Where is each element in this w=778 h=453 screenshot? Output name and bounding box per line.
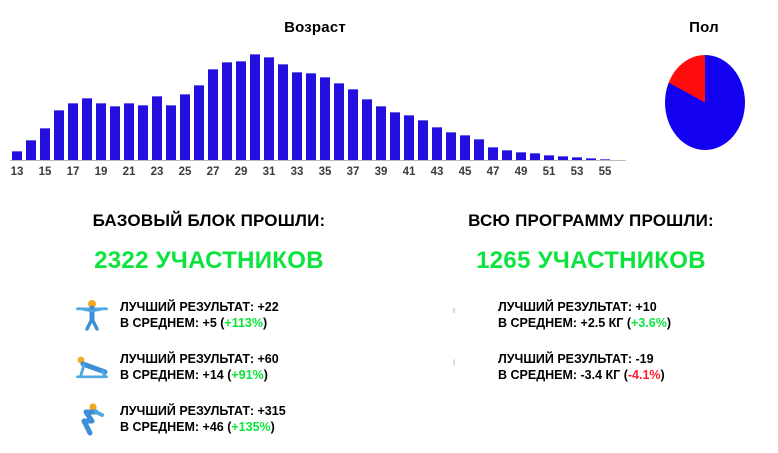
histogram-bars bbox=[10, 47, 626, 161]
x-axis-tick-label: 39 bbox=[374, 163, 388, 181]
x-axis-tick-label: 17 bbox=[66, 163, 80, 181]
x-axis-tick-blank bbox=[52, 163, 66, 181]
histogram-bar bbox=[320, 77, 330, 161]
metric-average-suffix: ) bbox=[661, 368, 665, 382]
histogram-x-axis-labels: 13 15 17 19 21 23 25 27 29 31 33 35 37 3… bbox=[10, 163, 626, 181]
metric-percent-change: +3.6% bbox=[631, 316, 667, 330]
x-axis-tick-label: 41 bbox=[402, 163, 416, 181]
histogram-bar bbox=[194, 85, 204, 161]
histogram-bar-slot bbox=[500, 47, 514, 161]
histogram-bar-slot bbox=[108, 47, 122, 161]
histogram-bar bbox=[348, 89, 358, 161]
x-axis-tick-label: 13 bbox=[10, 163, 24, 181]
histogram-bar bbox=[54, 110, 64, 161]
histogram-bar-slot bbox=[248, 47, 262, 161]
x-axis-tick-label: 37 bbox=[346, 163, 360, 181]
metric-percent-change: +91% bbox=[231, 368, 263, 382]
pull-up-figure-icon bbox=[72, 295, 112, 335]
metric-best-result: ЛУЧШИЙ РЕЗУЛЬТАТ: +315 bbox=[120, 403, 286, 419]
charts-region: Возраст Пол 13 15 17 19 21 23 25 27 29 3… bbox=[0, 0, 778, 196]
metric-row: ЛУЧШИЙ РЕЗУЛЬТАТ: +22В СРЕДНЕМ: +5 (+113… bbox=[14, 295, 404, 335]
gender-pie-chart bbox=[665, 55, 745, 150]
histogram-bar-slot bbox=[150, 47, 164, 161]
metric-best-result: ЛУЧШИЙ РЕЗУЛЬТАТ: +10 bbox=[498, 299, 671, 315]
x-axis-tick-blank bbox=[444, 163, 458, 181]
metric-row: ЛУЧШИЙ РЕЗУЛЬТАТ: -19В СРЕДНЕМ: -3.4 КГ … bbox=[404, 347, 778, 387]
x-axis-tick-blank bbox=[584, 163, 598, 181]
histogram-axis-line bbox=[10, 160, 626, 161]
histogram-bar-slot bbox=[570, 47, 584, 161]
x-axis-tick-blank bbox=[360, 163, 374, 181]
metric-average-result: В СРЕДНЕМ: -3.4 КГ (-4.1%) bbox=[498, 367, 665, 383]
metric-average-suffix: ) bbox=[667, 316, 671, 330]
histogram-bar bbox=[446, 132, 456, 161]
full-program-column: ВСЮ ПРОГРАММУ ПРОШЛИ: 1265 УЧАСТНИКОВ ЛУ… bbox=[404, 196, 778, 399]
histogram-bar bbox=[474, 139, 484, 161]
histogram-bar-slot bbox=[178, 47, 192, 161]
histogram-bar bbox=[236, 61, 246, 161]
histogram-bar bbox=[250, 54, 260, 161]
histogram-bar bbox=[264, 57, 274, 161]
metric-average-prefix: В СРЕДНЕМ: -3.4 КГ ( bbox=[498, 368, 628, 382]
histogram-bar bbox=[40, 128, 50, 161]
histogram-bar-slot bbox=[472, 47, 486, 161]
metric-average-prefix: В СРЕДНЕМ: +14 ( bbox=[120, 368, 231, 382]
histogram-bar bbox=[26, 140, 36, 161]
histogram-bar bbox=[208, 69, 218, 161]
histogram-bar-slot bbox=[122, 47, 136, 161]
histogram-bar-slot bbox=[66, 47, 80, 161]
x-axis-tick-blank bbox=[304, 163, 318, 181]
x-axis-tick-label: 27 bbox=[206, 163, 220, 181]
histogram-bar-slot bbox=[262, 47, 276, 161]
metric-best-result: ЛУЧШИЙ РЕЗУЛЬТАТ: -19 bbox=[498, 351, 665, 367]
metric-row: ЛУЧШИЙ РЕЗУЛЬТАТ: +10В СРЕДНЕМ: +2.5 КГ … bbox=[404, 295, 778, 335]
full-program-heading: ВСЮ ПРОГРАММУ ПРОШЛИ: bbox=[404, 211, 778, 231]
histogram-bar bbox=[292, 72, 302, 161]
metric-average-prefix: В СРЕДНЕМ: +5 ( bbox=[120, 316, 224, 330]
full-program-metric-list: ЛУЧШИЙ РЕЗУЛЬТАТ: +10В СРЕДНЕМ: +2.5 КГ … bbox=[404, 295, 778, 387]
histogram-bar-slot bbox=[598, 47, 612, 161]
x-axis-tick-label: 51 bbox=[542, 163, 556, 181]
histogram-bar-slot bbox=[164, 47, 178, 161]
histogram-bar-slot bbox=[192, 47, 206, 161]
x-axis-tick-blank bbox=[248, 163, 262, 181]
metric-best-result: ЛУЧШИЙ РЕЗУЛЬТАТ: +22 bbox=[120, 299, 279, 315]
metric-average-result: В СРЕДНЕМ: +46 (+135%) bbox=[120, 419, 286, 435]
squat-figure-icon bbox=[72, 399, 112, 439]
histogram-bar-slot bbox=[234, 47, 248, 161]
x-axis-tick-blank bbox=[612, 163, 626, 181]
x-axis-tick-blank bbox=[24, 163, 38, 181]
histogram-bar-slot bbox=[374, 47, 388, 161]
x-axis-tick-label: 29 bbox=[234, 163, 248, 181]
x-axis-tick-blank bbox=[416, 163, 430, 181]
histogram-bar bbox=[334, 83, 344, 161]
histogram-bar-slot bbox=[80, 47, 94, 161]
metric-text: ЛУЧШИЙ РЕЗУЛЬТАТ: +315В СРЕДНЕМ: +46 (+1… bbox=[120, 403, 286, 435]
histogram-bar-slot bbox=[290, 47, 304, 161]
x-axis-tick-blank bbox=[80, 163, 94, 181]
metric-average-suffix: ) bbox=[264, 368, 268, 382]
x-axis-tick-blank bbox=[556, 163, 570, 181]
histogram-bar-slot bbox=[346, 47, 360, 161]
metric-average-suffix: ) bbox=[263, 316, 267, 330]
histogram-bar-slot bbox=[458, 47, 472, 161]
histogram-bar-slot bbox=[542, 47, 556, 161]
histogram-bar bbox=[180, 94, 190, 161]
metric-average-prefix: В СРЕДНЕМ: +46 ( bbox=[120, 420, 231, 434]
histogram-bar bbox=[222, 62, 232, 161]
metric-average-result: В СРЕДНЕМ: +5 (+113%) bbox=[120, 315, 279, 331]
stats-region: БАЗОВЫЙ БЛОК ПРОШЛИ: 2322 УЧАСТНИКОВ ЛУЧ… bbox=[0, 196, 778, 453]
metric-text: ЛУЧШИЙ РЕЗУЛЬТАТ: -19В СРЕДНЕМ: -3.4 КГ … bbox=[498, 351, 665, 383]
histogram-bar bbox=[166, 105, 176, 161]
histogram-bar bbox=[96, 103, 106, 161]
histogram-bar-slot bbox=[276, 47, 290, 161]
histogram-bar-slot bbox=[612, 47, 626, 161]
histogram-bar-slot bbox=[402, 47, 416, 161]
plank-figure-icon bbox=[72, 347, 112, 387]
histogram-bar bbox=[390, 112, 400, 161]
metric-percent-change: +135% bbox=[231, 420, 270, 434]
histogram-bar bbox=[432, 127, 442, 161]
x-axis-tick-blank bbox=[528, 163, 542, 181]
histogram-bar bbox=[138, 105, 148, 161]
histogram-bar bbox=[82, 98, 92, 161]
histogram-bar-slot bbox=[388, 47, 402, 161]
histogram-bar-slot bbox=[360, 47, 374, 161]
x-axis-tick-label: 31 bbox=[262, 163, 276, 181]
histogram-bar bbox=[488, 147, 498, 161]
x-axis-tick-blank bbox=[220, 163, 234, 181]
histogram-bar-slot bbox=[318, 47, 332, 161]
x-axis-tick-blank bbox=[500, 163, 514, 181]
histogram-bar-slot bbox=[10, 47, 24, 161]
metric-text: ЛУЧШИЙ РЕЗУЛЬТАТ: +10В СРЕДНЕМ: +2.5 КГ … bbox=[498, 299, 671, 331]
basic-block-column: БАЗОВЫЙ БЛОК ПРОШЛИ: 2322 УЧАСТНИКОВ ЛУЧ… bbox=[14, 196, 404, 451]
x-axis-tick-blank bbox=[472, 163, 486, 181]
x-axis-tick-blank bbox=[136, 163, 150, 181]
histogram-bar bbox=[68, 103, 78, 161]
histogram-bar-slot bbox=[556, 47, 570, 161]
histogram-bar bbox=[376, 106, 386, 161]
histogram-bar bbox=[306, 73, 316, 161]
histogram-bar-slot bbox=[304, 47, 318, 161]
x-axis-tick-blank bbox=[276, 163, 290, 181]
x-axis-tick-label: 35 bbox=[318, 163, 332, 181]
histogram-bar-slot bbox=[444, 47, 458, 161]
age-chart-title: Возраст bbox=[0, 19, 630, 36]
x-axis-tick-label: 53 bbox=[570, 163, 584, 181]
full-program-participant-count: 1265 УЧАСТНИКОВ bbox=[404, 247, 778, 275]
x-axis-tick-label: 49 bbox=[514, 163, 528, 181]
histogram-bar-slot bbox=[430, 47, 444, 161]
basic-block-metric-list: ЛУЧШИЙ РЕЗУЛЬТАТ: +22В СРЕДНЕМ: +5 (+113… bbox=[14, 295, 404, 439]
x-axis-tick-label: 43 bbox=[430, 163, 444, 181]
histogram-bar-slot bbox=[416, 47, 430, 161]
x-axis-tick-label: 25 bbox=[178, 163, 192, 181]
x-axis-tick-label: 33 bbox=[290, 163, 304, 181]
x-axis-tick-label: 45 bbox=[458, 163, 472, 181]
x-axis-tick-label: 23 bbox=[150, 163, 164, 181]
scale-down-arrow-icon bbox=[450, 347, 490, 387]
metric-best-result: ЛУЧШИЙ РЕЗУЛЬТАТ: +60 bbox=[120, 351, 279, 367]
histogram-bar bbox=[404, 115, 414, 161]
histogram-bar-slot bbox=[584, 47, 598, 161]
histogram-bar-slot bbox=[220, 47, 234, 161]
x-axis-tick-label: 47 bbox=[486, 163, 500, 181]
metric-text: ЛУЧШИЙ РЕЗУЛЬТАТ: +60В СРЕДНЕМ: +14 (+91… bbox=[120, 351, 279, 383]
x-axis-tick-blank bbox=[192, 163, 206, 181]
histogram-bar bbox=[460, 135, 470, 161]
x-axis-tick-label: 15 bbox=[38, 163, 52, 181]
metric-average-prefix: В СРЕДНЕМ: +2.5 КГ ( bbox=[498, 316, 631, 330]
metric-row: ЛУЧШИЙ РЕЗУЛЬТАТ: +315В СРЕДНЕМ: +46 (+1… bbox=[14, 399, 404, 439]
metric-average-result: В СРЕДНЕМ: +2.5 КГ (+3.6%) bbox=[498, 315, 671, 331]
metric-average-suffix: ) bbox=[271, 420, 275, 434]
histogram-bar-slot bbox=[94, 47, 108, 161]
histogram-bar bbox=[124, 103, 134, 161]
gender-chart-title: Пол bbox=[630, 19, 778, 36]
histogram-bar-slot bbox=[38, 47, 52, 161]
histogram-bar-slot bbox=[486, 47, 500, 161]
histogram-bar-slot bbox=[206, 47, 220, 161]
scale-up-arrow-icon bbox=[450, 295, 490, 335]
metric-percent-change: +113% bbox=[224, 316, 263, 330]
x-axis-tick-blank bbox=[108, 163, 122, 181]
basic-block-participant-count: 2322 УЧАСТНИКОВ bbox=[14, 247, 404, 275]
histogram-bar-slot bbox=[24, 47, 38, 161]
metric-text: ЛУЧШИЙ РЕЗУЛЬТАТ: +22В СРЕДНЕМ: +5 (+113… bbox=[120, 299, 279, 331]
histogram-bar bbox=[362, 99, 372, 161]
x-axis-tick-label: 21 bbox=[122, 163, 136, 181]
histogram-bar bbox=[278, 64, 288, 161]
x-axis-tick-blank bbox=[332, 163, 346, 181]
metric-row: ЛУЧШИЙ РЕЗУЛЬТАТ: +60В СРЕДНЕМ: +14 (+91… bbox=[14, 347, 404, 387]
histogram-bar-slot bbox=[52, 47, 66, 161]
histogram-bar bbox=[418, 120, 428, 161]
x-axis-tick-label: 19 bbox=[94, 163, 108, 181]
histogram-bar bbox=[110, 106, 120, 161]
age-histogram-chart bbox=[10, 46, 626, 161]
x-axis-tick-blank bbox=[164, 163, 178, 181]
histogram-bar-slot bbox=[136, 47, 150, 161]
basic-block-heading: БАЗОВЫЙ БЛОК ПРОШЛИ: bbox=[14, 211, 404, 231]
histogram-bar-slot bbox=[514, 47, 528, 161]
histogram-bar-slot bbox=[332, 47, 346, 161]
histogram-bar-slot bbox=[528, 47, 542, 161]
metric-percent-change: -4.1% bbox=[628, 368, 661, 382]
x-axis-tick-blank bbox=[388, 163, 402, 181]
metric-average-result: В СРЕДНЕМ: +14 (+91%) bbox=[120, 367, 279, 383]
x-axis-tick-label: 55 bbox=[598, 163, 612, 181]
histogram-bar bbox=[152, 96, 162, 161]
